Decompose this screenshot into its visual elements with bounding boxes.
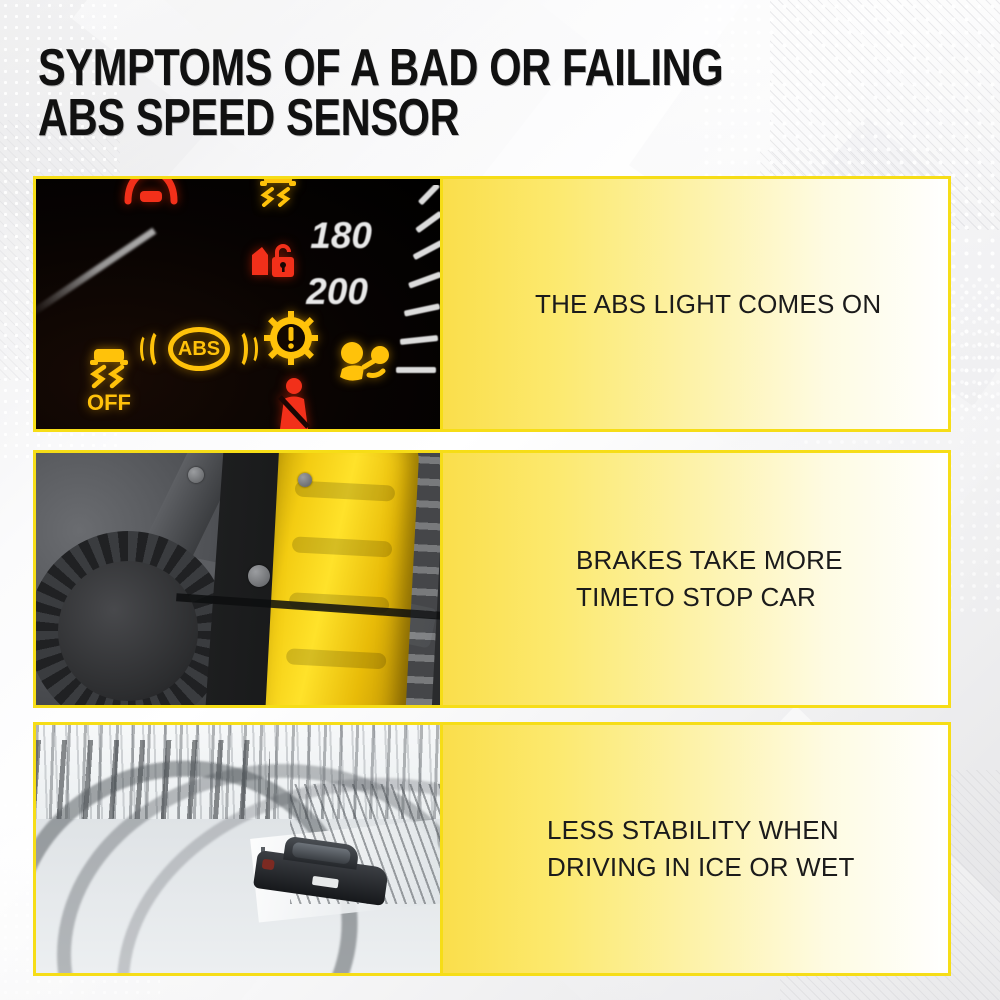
speed-mark-200: 200 bbox=[306, 271, 368, 313]
traction-off-label: OFF bbox=[80, 390, 138, 416]
abs-arc-left-outer bbox=[140, 334, 152, 364]
traction-control-icon bbox=[252, 176, 304, 220]
abs-ring: ABS bbox=[168, 327, 230, 371]
symptom-caption-text: LESS STABILITY WHEN DRIVING IN ICE OR WE… bbox=[547, 812, 855, 886]
caliper-bolt bbox=[298, 473, 312, 487]
symptom-row: LESS STABILITY WHEN DRIVING IN ICE OR WE… bbox=[33, 722, 951, 976]
dashboard-image: 180 200 bbox=[33, 176, 443, 432]
dashboard-scene: 180 200 bbox=[36, 179, 440, 429]
seatbelt-warning-icon bbox=[272, 377, 320, 432]
symptom-caption-panel: BRAKES TAKE MORE TIMETO STOP CAR bbox=[443, 450, 951, 708]
symptom-caption-text: THE ABS LIGHT COMES ON bbox=[535, 286, 881, 323]
wheel-hub-cap bbox=[58, 561, 198, 701]
abs-label: ABS bbox=[178, 338, 220, 361]
snow-scene bbox=[36, 725, 440, 973]
gear-exclamation-icon bbox=[264, 311, 318, 370]
symptom-caption-text: BRAKES TAKE MORE TIMETO STOP CAR bbox=[576, 542, 843, 616]
car-taillight bbox=[262, 859, 275, 871]
wheel-brake-image bbox=[33, 450, 443, 708]
wheel-scene bbox=[36, 453, 440, 705]
symptom-caption-panel: THE ABS LIGHT COMES ON bbox=[443, 176, 951, 432]
wheel-bolt bbox=[188, 467, 204, 483]
gauge-needle bbox=[33, 228, 156, 318]
caliper-bolt bbox=[248, 565, 270, 587]
symptom-row: BRAKES TAKE MORE TIMETO STOP CAR bbox=[33, 450, 951, 708]
page-title: SYMPTOMS OF A BAD OR FAILING ABS SPEED S… bbox=[38, 44, 742, 144]
traction-control-off-icon: OFF bbox=[80, 347, 138, 416]
abs-warning-icon: ABS bbox=[168, 327, 230, 371]
speed-mark-180: 180 bbox=[310, 215, 372, 257]
abs-arc-left bbox=[150, 329, 168, 369]
brake-caliper bbox=[264, 453, 420, 705]
airbag-warning-icon bbox=[336, 339, 392, 396]
symptom-caption-panel: LESS STABILITY WHEN DRIVING IN ICE OR WE… bbox=[443, 722, 951, 976]
door-ajar-lock-icon bbox=[248, 241, 300, 286]
symptom-row: 180 200 bbox=[33, 176, 951, 432]
brake-warning-icon bbox=[122, 176, 180, 218]
snowy-road-image bbox=[33, 722, 443, 976]
abs-arc-right-outer bbox=[246, 334, 258, 364]
